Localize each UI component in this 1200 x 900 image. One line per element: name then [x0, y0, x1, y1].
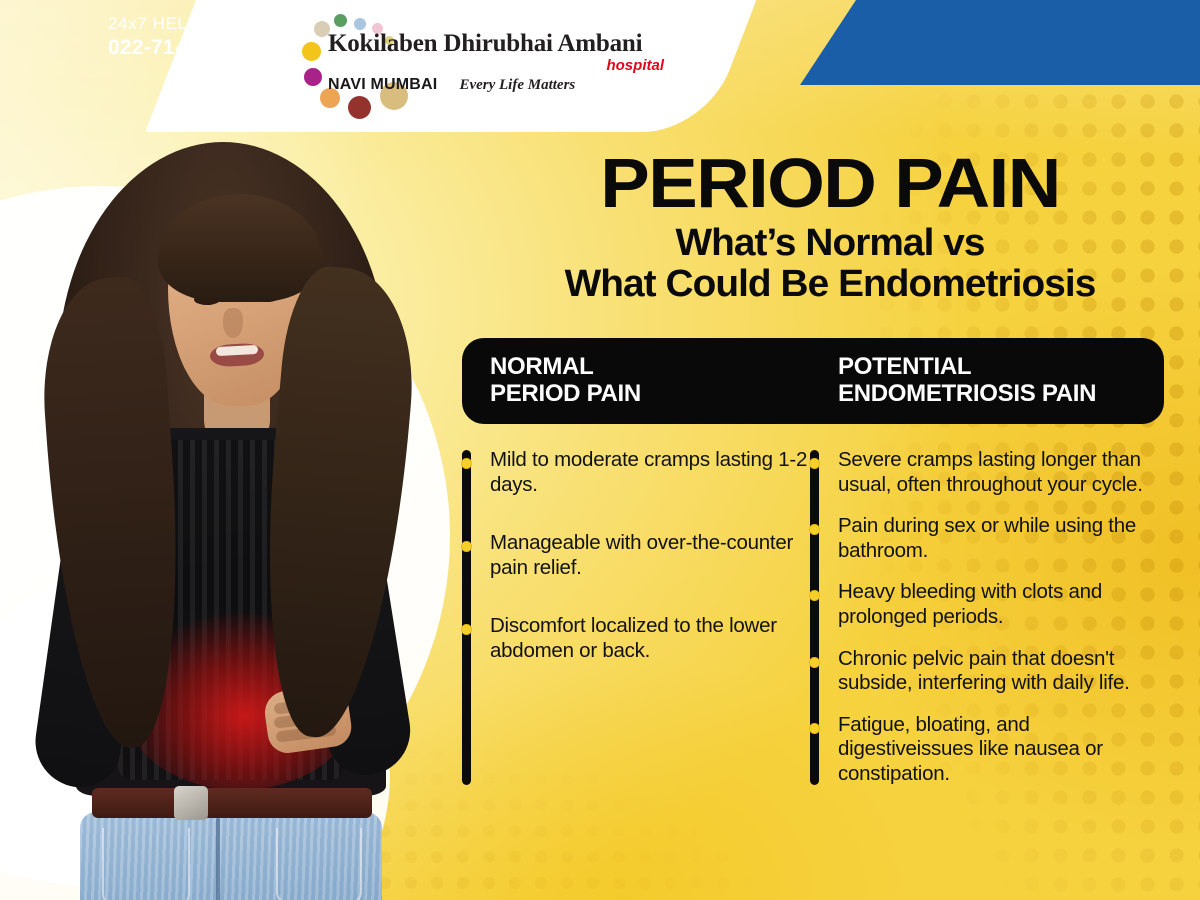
comparison-list-item-text: Manageable with over-the-counter pain re… [490, 531, 810, 580]
comparison-list-item: Manageable with over-the-counter pain re… [462, 531, 810, 580]
comparison-list-item: Mild to moderate cramps lasting 1-2 days… [462, 448, 810, 497]
patient-photo [18, 128, 448, 900]
belt-buckle [174, 786, 208, 820]
comparison-list-item-text: Severe cramps lasting longer than usual,… [838, 448, 1164, 497]
bullet-dot-icon [809, 524, 820, 535]
bullet-dot-icon [809, 723, 820, 734]
logo-dot [334, 14, 347, 27]
jeans-pocket-right [276, 828, 362, 900]
bullet-dot-icon [461, 458, 472, 469]
logo-hospital-word: hospital [328, 57, 668, 74]
comparison-table: NORMAL PERIOD PAIN POTENTIAL ENDOMETRIOS… [462, 338, 1164, 787]
bullet-dot-icon [461, 541, 472, 552]
comparison-body: Mild to moderate cramps lasting 1-2 days… [462, 448, 1164, 787]
comparison-list-item: Chronic pelvic pain that doesn't subside… [810, 647, 1164, 696]
bullet-dot-icon [809, 590, 820, 601]
hospital-logo: Kokilaben Dhirubhai Ambani hospital NAVI… [292, 12, 662, 122]
comparison-list-item: Heavy bleeding with clots and prolonged … [810, 580, 1164, 629]
logo-text-group: Kokilaben Dhirubhai Ambani hospital NAVI… [328, 30, 668, 94]
column-header-endometriosis: POTENTIAL ENDOMETRIOSIS PAIN [810, 338, 1164, 424]
column-normal-period-pain: Mild to moderate cramps lasting 1-2 days… [462, 448, 810, 787]
page-title: PERIOD PAIN [448, 150, 1200, 217]
logo-hospital-name: Kokilaben Dhirubhai Ambani [328, 30, 668, 58]
comparison-list-item-text: Discomfort localized to the lower abdome… [490, 614, 810, 663]
column-header-normal-line2: PERIOD PAIN [490, 381, 810, 408]
helpline-banner [800, 0, 1200, 85]
comparison-list-item: Discomfort localized to the lower abdome… [462, 614, 810, 663]
subtitle-line-1: What’s Normal vs [463, 223, 1197, 264]
column-potential-endometriosis-pain: Severe cramps lasting longer than usual,… [810, 448, 1164, 787]
comparison-list-item: Fatigue, bloating, and digestiveissues l… [810, 713, 1164, 787]
bullet-dot-icon [461, 624, 472, 635]
subtitle-line-2: What Could Be Endometriosis [463, 264, 1197, 305]
logo-dot [348, 96, 371, 119]
belt [92, 788, 372, 818]
page-subtitle: What’s Normal vs What Could Be Endometri… [463, 223, 1197, 304]
comparison-list-item: Severe cramps lasting longer than usual,… [810, 448, 1164, 497]
logo-city: NAVI MUMBAI [328, 76, 437, 94]
title-block: PERIOD PAIN What’s Normal vs What Could … [470, 150, 1190, 305]
poster-header: 24x7 HELPLINE 022-71-97-97-97 Kokilaben … [0, 0, 1200, 135]
comparison-header-bar: NORMAL PERIOD PAIN POTENTIAL ENDOMETRIOS… [462, 338, 1164, 424]
column-header-normal-line1: NORMAL [490, 354, 810, 381]
column-header-normal: NORMAL PERIOD PAIN [462, 338, 810, 424]
bullet-dot-icon [809, 657, 820, 668]
infographic-poster: 24x7 HELPLINE 022-71-97-97-97 Kokilaben … [0, 0, 1200, 900]
jeans-fly [216, 818, 220, 900]
logo-tagline: Every Life Matters [459, 77, 575, 94]
comparison-list-item: Pain during sex or while using the bathr… [810, 514, 1164, 563]
comparison-list-item-text: Chronic pelvic pain that doesn't subside… [838, 647, 1164, 696]
column-header-endometriosis-line2: ENDOMETRIOSIS PAIN [838, 381, 1164, 408]
jeans-pocket-left [102, 828, 190, 900]
bullet-dot-icon [809, 458, 820, 469]
comparison-list-item-text: Pain during sex or while using the bathr… [838, 514, 1164, 563]
logo-dot [354, 18, 366, 30]
column-header-endometriosis-line1: POTENTIAL [838, 354, 1164, 381]
comparison-list-item-text: Mild to moderate cramps lasting 1-2 days… [490, 448, 810, 497]
logo-dot [304, 68, 322, 86]
comparison-list-item-text: Fatigue, bloating, and digestiveissues l… [838, 713, 1164, 787]
logo-dot [302, 42, 321, 61]
nose [223, 308, 243, 338]
comparison-list-item-text: Heavy bleeding with clots and prolonged … [838, 580, 1164, 629]
